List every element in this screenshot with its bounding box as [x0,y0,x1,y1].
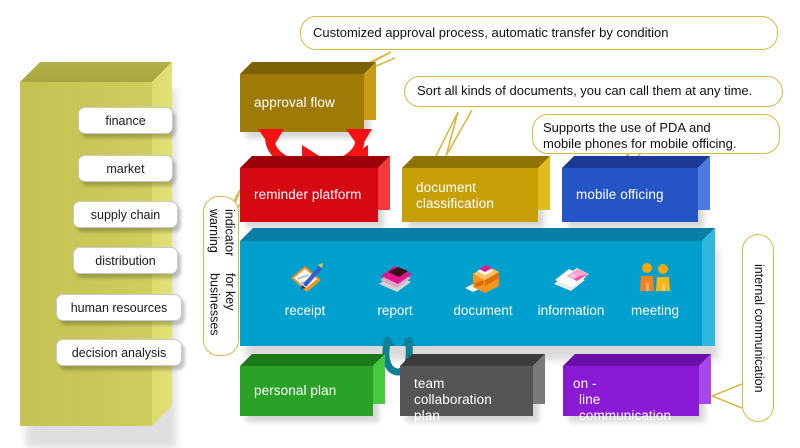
module-label: receipt [262,303,348,318]
pillar-tag-market[interactable]: market [78,155,173,182]
box-mobile-officing[interactable]: mobile officing [562,156,710,222]
report-books-icon [352,256,438,298]
module-label: report [352,303,438,318]
module-label: meeting [612,303,698,318]
box-document-classification[interactable]: document classification [402,156,550,222]
box-top-face [400,354,545,366]
box-top-face [240,62,376,74]
callout-text: Customized approval process, automatic t… [313,25,669,41]
box-label: personal plan [254,383,336,399]
callout-approval-process: Customized approval process, automatic t… [300,16,778,50]
box-front-face: personal plan [240,366,373,416]
box-label-line-2: classification [416,196,524,212]
document-filing-cabinet-icon [440,256,526,298]
box-label-line-2: line communication [579,392,685,424]
box-front-face: reminder platform [240,168,378,222]
diagram-canvas: finance market supply chain distribution… [0,0,800,441]
callout-line-2: for key businesses [206,273,237,343]
pillar-top-face [20,62,172,82]
box-front-face: on - line communication [563,366,699,416]
box-front-face: document classification [402,168,538,222]
pillar-tag-label: distribution [95,254,155,268]
pillar-tag-label: market [106,162,144,176]
module-label: document [440,303,526,318]
pillar-tag-distribution[interactable]: distribution [73,247,178,274]
information-papers-envelope-icon [528,256,614,298]
box-reminder-platform[interactable]: reminder platform [240,156,390,222]
module-document[interactable]: document [440,256,526,318]
box-top-face [563,354,711,366]
box-approval-flow[interactable]: approval flow [240,62,376,132]
callout-line-1: Supports the use of PDA and [543,120,769,136]
box-front-face: approval flow [240,74,364,132]
pillar-tag-label: supply chain [91,208,161,222]
panel-side-face [702,228,715,346]
callout-indicator-warning: indicator warning for key businesses [203,196,239,356]
panel-core-modules: receipt report [240,228,715,346]
module-meeting[interactable]: meeting [612,256,698,318]
pillar-tag-finance[interactable]: finance [78,107,173,134]
box-label-line-1: on - [573,376,685,392]
box-online-communication[interactable]: on - line communication [563,354,711,416]
box-label: approval flow [254,95,335,111]
pillar-tag-label: human resources [71,301,168,315]
box-top-face [402,156,550,168]
box-front-face: mobile officing [562,168,698,222]
box-label: mobile officing [576,187,664,203]
callout-pda-mobile: Supports the use of PDA and mobile phone… [532,114,780,154]
callout-text: Sort all kinds of documents, you can cal… [417,83,752,99]
box-top-face [240,354,385,366]
module-information[interactable]: information [528,256,614,318]
box-label-line-1: team collaboration [414,376,519,408]
callout-text: internal communication [750,264,766,393]
panel-top-face [240,228,715,241]
callout-internal-communication: internal communication [742,234,774,422]
box-front-face: team collaboration plan [400,366,533,416]
receipt-clipboard-pen-icon [262,256,348,298]
box-label-line-1: document [416,180,524,196]
pillar-tag-label: finance [105,114,145,128]
box-team-collaboration-plan[interactable]: team collaboration plan [400,354,545,416]
pillar-tag-supply-chain[interactable]: supply chain [73,201,178,228]
pillar-tag-label: decision analysis [72,346,167,360]
callout-line-1: indicator warning [205,209,236,273]
box-personal-plan[interactable]: personal plan [240,354,385,416]
box-top-face [240,156,390,168]
callout-line-2: mobile phones for mobile officing. [543,136,769,152]
module-report[interactable]: report [352,256,438,318]
pillar-tag-human-resources[interactable]: human resources [56,294,182,321]
callout-sort-documents: Sort all kinds of documents, you can cal… [404,76,783,107]
module-label: information [528,303,614,318]
box-top-face [562,156,710,168]
box-label: reminder platform [254,187,362,203]
module-receipt[interactable]: receipt [262,256,348,318]
meeting-two-people-icon [612,256,698,298]
pillar-tag-decision-analysis[interactable]: decision analysis [56,339,182,366]
box-label-line-2: plan [414,408,519,424]
